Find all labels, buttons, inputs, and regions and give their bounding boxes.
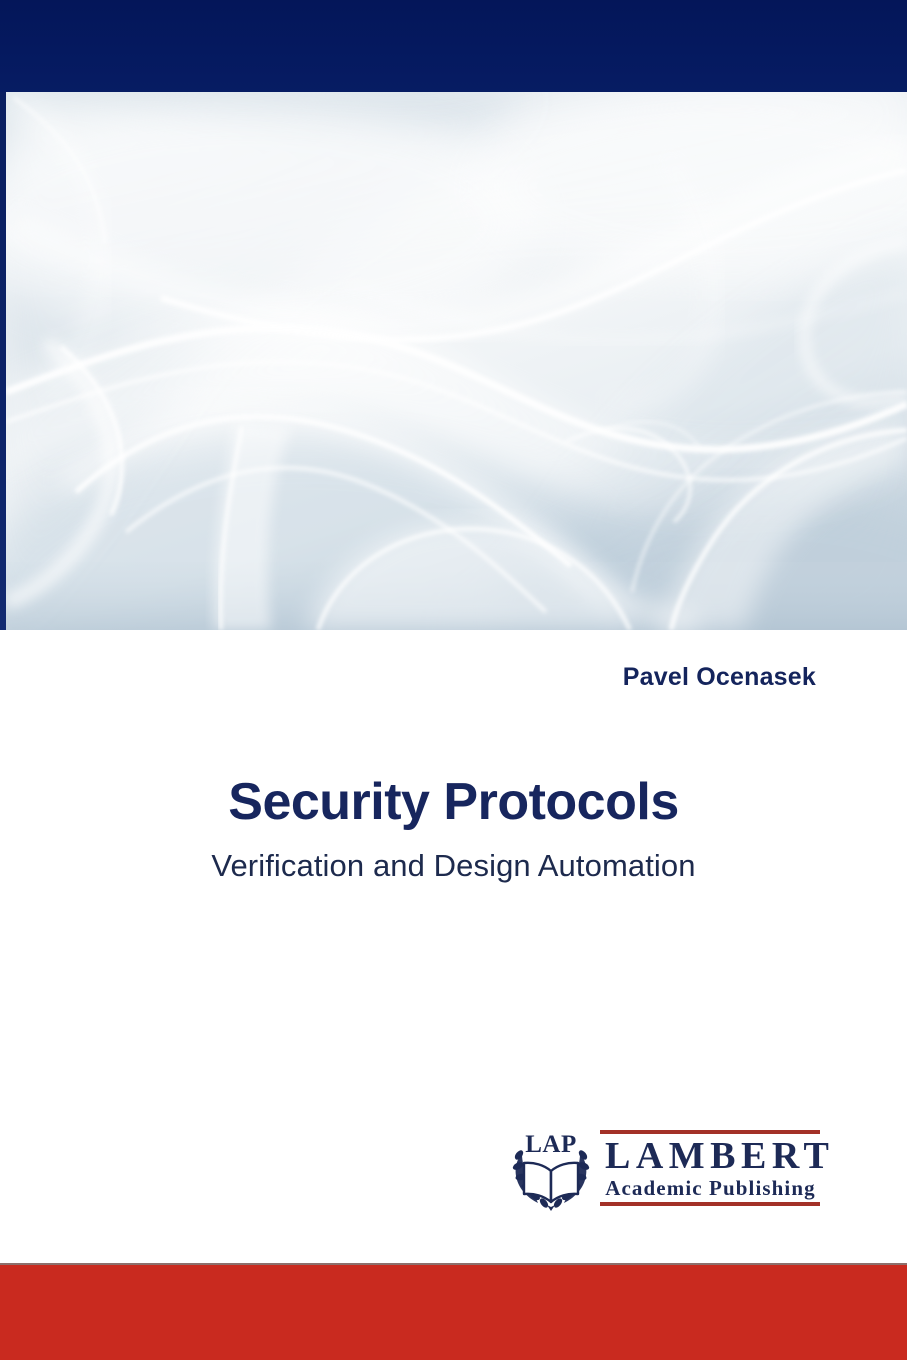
book-title: Security Protocols xyxy=(0,772,907,832)
publisher-logo: LAP LAMBERT Academic Publishing xyxy=(508,1126,820,1216)
lap-laurel-book-icon: LAP xyxy=(508,1126,594,1214)
logo-rule-top xyxy=(600,1130,820,1134)
svg-text:LAP: LAP xyxy=(525,1131,577,1158)
book-subtitle: Verification and Design Automation xyxy=(0,848,907,884)
author-name: Pavel Ocenasek xyxy=(623,663,816,692)
publisher-tagline: Academic Publishing xyxy=(600,1176,820,1200)
artwork-left-edge-strip xyxy=(0,92,6,630)
cover-artwork xyxy=(0,92,907,630)
logo-rule-bottom xyxy=(600,1202,820,1206)
bottom-red-band xyxy=(0,1265,907,1360)
top-navy-band xyxy=(0,0,907,92)
artwork-canvas xyxy=(6,92,907,630)
publisher-name: LAMBERT xyxy=(600,1136,820,1176)
lambert-wordmark: LAMBERT Academic Publishing xyxy=(600,1130,820,1206)
